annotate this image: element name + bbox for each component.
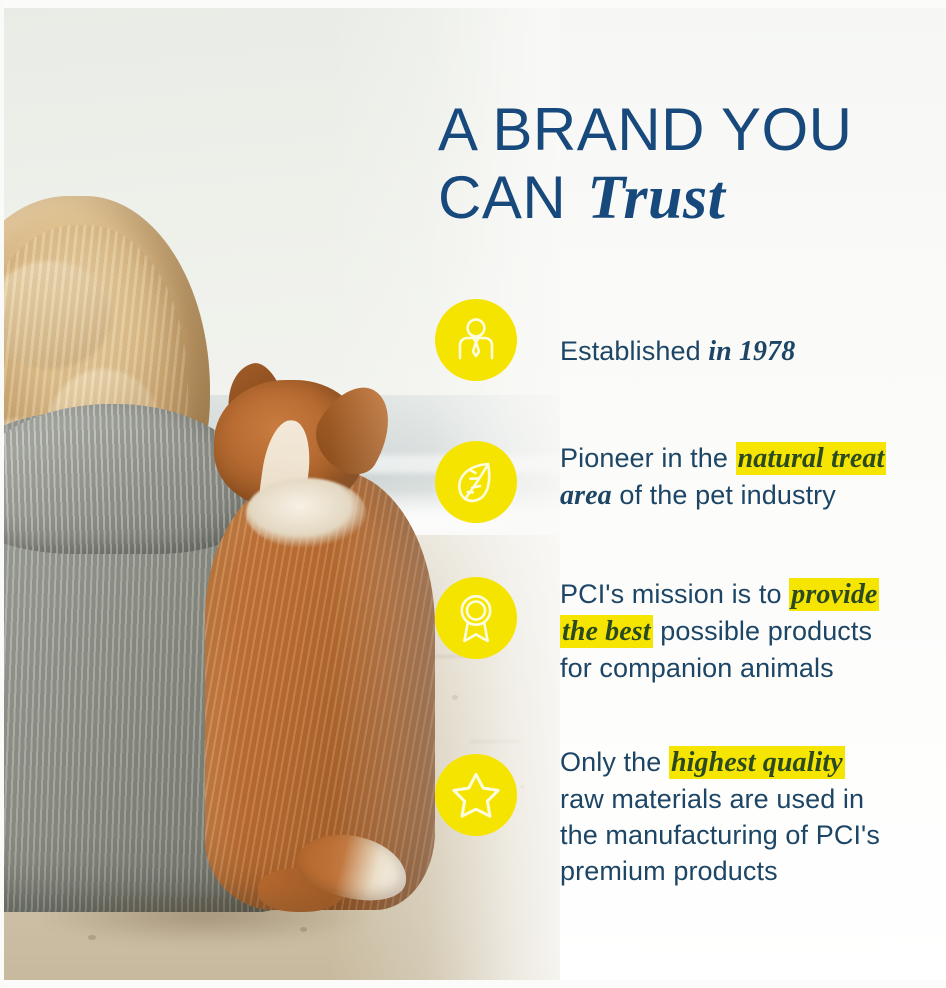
star-icon <box>435 754 517 836</box>
award-ribbon-icon <box>435 577 517 659</box>
feature-3-l1-s2: provide <box>789 578 879 611</box>
feature-3-line-1: PCI's mission is to provide <box>560 576 946 613</box>
feature-2-line-1: Pioneer in the natural treat <box>560 440 946 477</box>
feature-3-l2-s1: the best <box>560 615 653 648</box>
feature-4-line-1: Only the highest quality <box>560 744 946 781</box>
feature-3-line-2: the best possible products <box>560 613 946 650</box>
feature-text-4: Only the highest quality raw materials a… <box>560 744 946 889</box>
feature-4-l2-s1: raw materials are used in <box>560 784 864 814</box>
feature-list: Established in 1978 Pioneer in the natur… <box>0 0 946 988</box>
feature-text-1: Established in 1978 <box>560 333 946 370</box>
feature-1-line-1: Established in 1978 <box>560 333 946 370</box>
feature-3-line-3: for companion animals <box>560 650 946 686</box>
feature-text-3: PCI's mission is to provide the best pos… <box>560 576 946 686</box>
feature-2-l1-s2: natural treat <box>736 442 887 475</box>
feature-1-l1-s1: Established <box>560 336 708 366</box>
feature-4-line-3: the manufacturing of PCI's <box>560 817 946 853</box>
feature-1-l1-s2: in 1978 <box>708 336 795 367</box>
feature-4-l4-s1: premium products <box>560 856 778 886</box>
person-with-tie-icon <box>435 299 517 381</box>
feature-3-l1-s1: PCI's mission is to <box>560 579 789 609</box>
feature-2-l2-s2: of the pet industry <box>612 480 836 510</box>
feature-3-l2-s2: possible products <box>653 616 872 646</box>
feature-4-line-2: raw materials are used in <box>560 781 946 817</box>
feature-2-l2-s1: area <box>560 480 612 511</box>
feature-4-l1-s2: highest quality <box>669 746 845 779</box>
feature-4-line-4: premium products <box>560 853 946 889</box>
feature-4-l1-s1: Only the <box>560 747 669 777</box>
feature-2-line-2: area of the pet industry <box>560 477 946 514</box>
leaf-icon <box>435 441 517 523</box>
feature-2-l1-s1: Pioneer in the <box>560 443 736 473</box>
feature-3-l3-s1: for companion animals <box>560 653 834 683</box>
feature-4-l3-s1: the manufacturing of PCI's <box>560 820 880 850</box>
brand-trust-poster: A BRAND YOU CAN Trust Established in 197… <box>0 0 946 988</box>
feature-text-2: Pioneer in the natural treat area of the… <box>560 440 946 514</box>
